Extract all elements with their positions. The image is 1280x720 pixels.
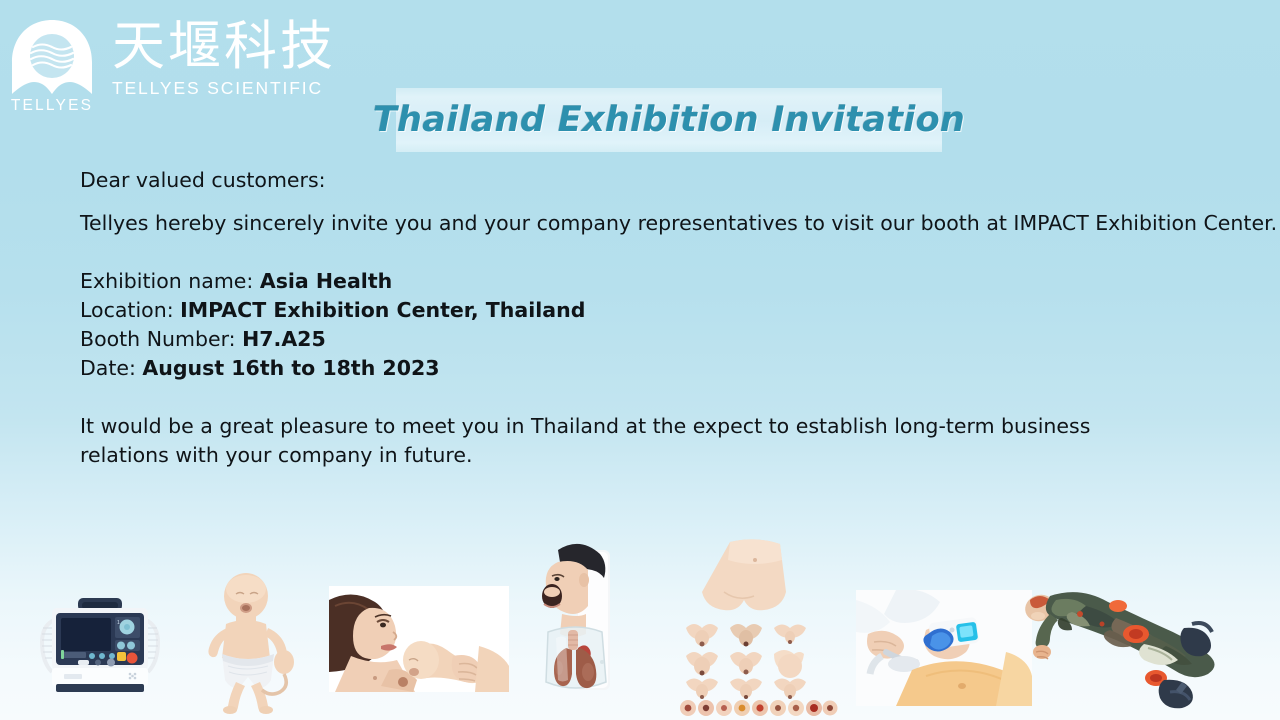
salutation: Dear valued customers: bbox=[80, 166, 1220, 195]
product-breastfeeding-model bbox=[329, 586, 509, 692]
product-gynecological-model-set bbox=[672, 536, 838, 718]
intro-paragraph: Tellyes hereby sincerely invite you and … bbox=[80, 209, 1220, 238]
page-title: Thailand Exhibition Invitation bbox=[373, 100, 965, 140]
detail-label: Booth Number: bbox=[80, 327, 242, 351]
detail-date: Date: August 16th to 18th 2023 bbox=[80, 354, 1220, 383]
product-defibrillator-monitor: 1 bbox=[34, 588, 166, 698]
detail-value: H7.A25 bbox=[242, 327, 326, 351]
brand-name-english: TELLYES SCIENTIFIC bbox=[112, 80, 336, 98]
detail-value: August 16th to 18th 2023 bbox=[142, 356, 439, 380]
brand-name-chinese: 天堰科技 bbox=[112, 20, 336, 74]
spacer bbox=[80, 383, 1220, 412]
tellyes-dome-wave-logo-icon: TELLYES bbox=[8, 16, 96, 120]
detail-value: Asia Health bbox=[260, 269, 392, 293]
detail-label: Date: bbox=[80, 356, 142, 380]
detail-exhibition-name: Exhibition name: Asia Health bbox=[80, 267, 1220, 296]
brand-logo: TELLYES 天堰科技 TELLYES SCIENTIFIC bbox=[8, 16, 336, 120]
brand-name-block: 天堰科技 TELLYES SCIENTIFIC bbox=[112, 16, 336, 98]
spacer bbox=[80, 238, 1220, 267]
detail-booth-number: Booth Number: H7.A25 bbox=[80, 325, 1220, 354]
product-infant-cpr-manikin bbox=[196, 572, 300, 714]
detail-location: Location: IMPACT Exhibition Center, Thai… bbox=[80, 296, 1220, 325]
spacer bbox=[80, 195, 1220, 209]
invitation-letter: Dear valued customers: Tellyes hereby si… bbox=[80, 166, 1220, 470]
logo-wordmark: TELLYES bbox=[8, 98, 96, 114]
detail-value: IMPACT Exhibition Center, Thailand bbox=[180, 298, 585, 322]
page-title-banner: Thailand Exhibition Invitation bbox=[396, 88, 942, 152]
detail-label: Exhibition name: bbox=[80, 269, 260, 293]
product-combat-trauma-manikin bbox=[1016, 572, 1228, 712]
svg-text:1: 1 bbox=[117, 620, 120, 626]
closing-paragraph: It would be a great pleasure to meet you… bbox=[80, 412, 1180, 470]
detail-label: Location: bbox=[80, 298, 180, 322]
product-airway-intubation-manikin bbox=[522, 534, 626, 706]
product-obstetric-ultrasound-demo bbox=[856, 590, 1032, 706]
product-image-strip: 1 bbox=[0, 520, 1280, 720]
